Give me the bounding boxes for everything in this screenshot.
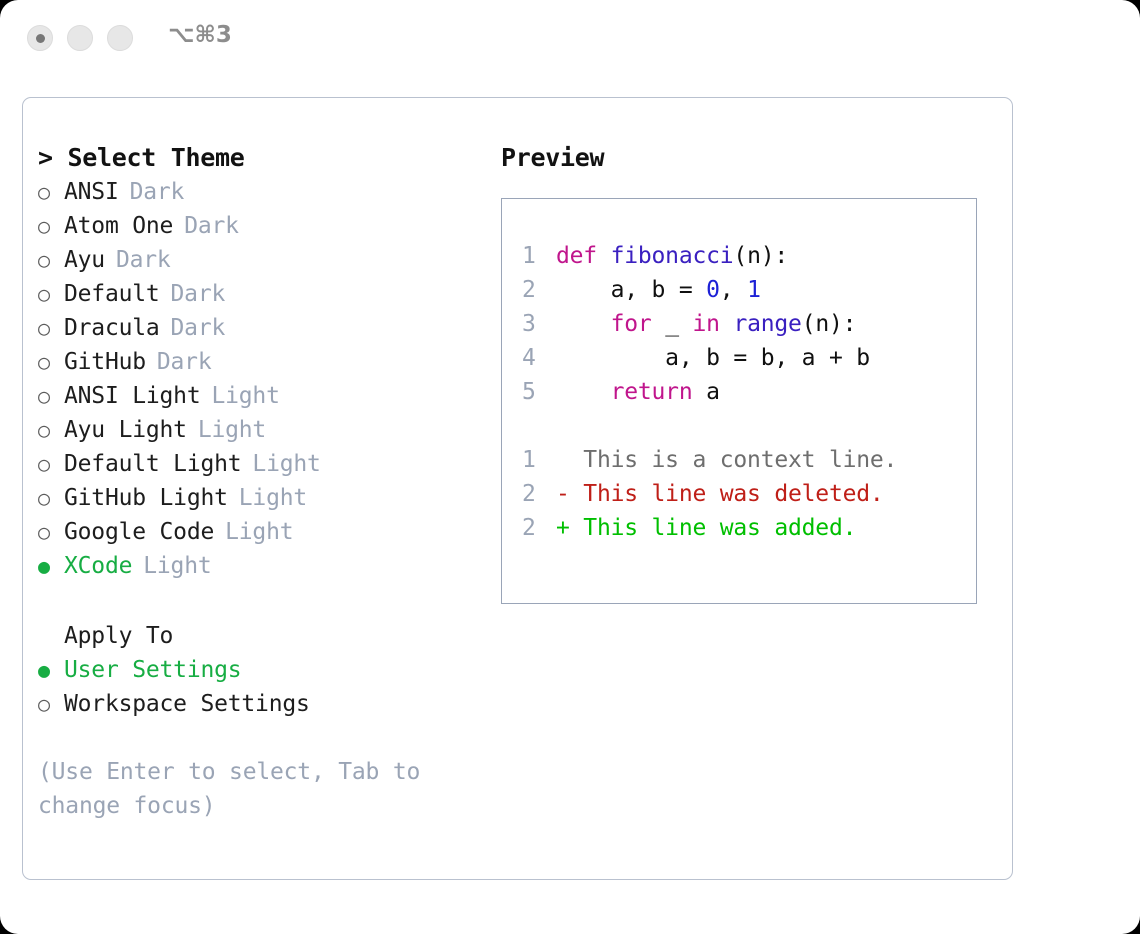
main-panel: > Select Theme ○ANSIDark○Atom OneDark○Ay… xyxy=(22,97,1013,880)
theme-name-label: Ayu xyxy=(64,243,105,277)
code-token-plain: (n): xyxy=(802,311,857,337)
theme-list: ○ANSIDark○Atom OneDark○AyuDark○DefaultDa… xyxy=(38,175,488,583)
code-line-text: def fibonacci(n): xyxy=(556,239,788,273)
radio-unselected-icon: ○ xyxy=(38,345,64,379)
theme-name-label: Atom One xyxy=(64,209,173,243)
theme-name-label: Dracula xyxy=(64,311,160,345)
theme-variant-label: Light xyxy=(211,379,279,413)
theme-list-item[interactable]: ○ANSI LightLight xyxy=(38,379,488,413)
radio-unselected-icon: ○ xyxy=(38,175,64,209)
theme-list-item[interactable]: ○Ayu LightLight xyxy=(38,413,488,447)
theme-name-label: Ayu Light xyxy=(64,413,187,447)
radio-unselected-icon: ○ xyxy=(38,481,64,515)
apply-to-header: Apply To xyxy=(38,619,488,653)
theme-variant-label: Dark xyxy=(184,209,239,243)
line-number: 2 xyxy=(522,273,556,307)
radio-unselected-icon: ○ xyxy=(38,311,64,345)
preview-column: Preview 1def fibonacci(n):2 a, b = 0, 13… xyxy=(501,141,1001,604)
theme-name-label: ANSI xyxy=(64,175,119,209)
diff-line: 2+ This line was added. xyxy=(522,511,976,545)
code-line: 4 a, b = b, a + b xyxy=(522,341,976,375)
theme-list-item[interactable]: ○ANSIDark xyxy=(38,175,488,209)
code-sample: 1def fibonacci(n):2 a, b = 0, 13 for _ i… xyxy=(522,239,976,409)
radio-unselected-icon: ○ xyxy=(38,515,64,549)
diff-line-text: - This line was deleted. xyxy=(556,477,884,511)
apply-to-option[interactable]: ○Workspace Settings xyxy=(38,687,488,721)
code-line-text: a, b = 0, 1 xyxy=(556,273,761,307)
keyboard-shortcut-label: ⌥⌘3 xyxy=(168,22,232,48)
theme-list-item[interactable]: ○DefaultDark xyxy=(38,277,488,311)
theme-name-label: GitHub xyxy=(64,345,146,379)
line-number: 1 xyxy=(522,443,556,477)
line-number: 2 xyxy=(522,511,556,545)
code-token-plain: a xyxy=(692,379,719,405)
theme-list-item[interactable]: ○DraculaDark xyxy=(38,311,488,345)
preview-title: Preview xyxy=(501,141,1001,175)
theme-list-item[interactable]: ○GitHub LightLight xyxy=(38,481,488,515)
theme-variant-label: Dark xyxy=(116,243,171,277)
preview-box: 1def fibonacci(n):2 a, b = 0, 13 for _ i… xyxy=(501,198,977,604)
diff-line: 2- This line was deleted. xyxy=(522,477,976,511)
code-line: 5 return a xyxy=(522,375,976,409)
code-token-num: 1 xyxy=(747,277,761,303)
code-token-fn: fibonacci xyxy=(611,243,734,269)
radio-selected-icon: ● xyxy=(38,653,64,687)
line-number: 4 xyxy=(522,341,556,375)
radio-selected-icon: ● xyxy=(38,549,64,583)
code-token-plain: (n): xyxy=(733,243,788,269)
line-number: 1 xyxy=(522,239,556,273)
theme-list-item[interactable]: ○AyuDark xyxy=(38,243,488,277)
diff-sample: 1 This is a context line.2- This line wa… xyxy=(522,443,976,545)
radio-unselected-icon: ○ xyxy=(38,209,64,243)
code-token-num: 0 xyxy=(706,277,720,303)
radio-unselected-icon: ○ xyxy=(38,447,64,481)
window-dot-active-center-icon xyxy=(36,34,45,43)
theme-list-item[interactable]: ○Default LightLight xyxy=(38,447,488,481)
theme-name-label: Default Light xyxy=(64,447,241,481)
apply-to-section: Apply To ●User Settings○Workspace Settin… xyxy=(38,619,488,721)
window-dot-second-icon[interactable] xyxy=(67,25,93,51)
code-line: 3 for _ in range(n): xyxy=(522,307,976,341)
theme-variant-label: Dark xyxy=(157,345,212,379)
line-number: 3 xyxy=(522,307,556,341)
app-window: ⌥⌘3 > Select Theme ○ANSIDark○Atom OneDar… xyxy=(0,0,1140,934)
select-theme-header: > Select Theme xyxy=(38,141,488,175)
radio-unselected-icon: ○ xyxy=(38,277,64,311)
theme-name-label: Google Code xyxy=(64,515,214,549)
radio-unselected-icon: ○ xyxy=(38,687,64,721)
code-token-plain: a, b = b, a + b xyxy=(556,345,870,371)
theme-variant-label: Dark xyxy=(171,277,226,311)
apply-to-option-label: User Settings xyxy=(64,653,241,687)
title-bar: ⌥⌘3 xyxy=(0,0,1140,80)
code-line-text: return a xyxy=(556,375,720,409)
code-token-plain: a, b = xyxy=(556,277,706,303)
theme-variant-label: Light xyxy=(252,447,320,481)
code-token-plain xyxy=(720,311,734,337)
theme-list-item[interactable]: ●XCodeLight xyxy=(38,549,488,583)
theme-name-label: ANSI Light xyxy=(64,379,200,413)
code-line-text: a, b = b, a + b xyxy=(556,341,870,375)
theme-variant-label: Light xyxy=(198,413,266,447)
theme-variant-label: Light xyxy=(239,481,307,515)
code-token-plain xyxy=(556,379,611,405)
theme-variant-label: Light xyxy=(225,515,293,549)
code-token-fn: range xyxy=(733,311,801,337)
theme-variant-label: Light xyxy=(143,549,211,583)
diff-line-text: This is a context line. xyxy=(556,443,897,477)
radio-unselected-icon: ○ xyxy=(38,243,64,277)
radio-unselected-icon: ○ xyxy=(38,379,64,413)
window-dot-third-icon[interactable] xyxy=(107,25,133,51)
theme-name-label: Default xyxy=(64,277,160,311)
apply-to-option-label: Workspace Settings xyxy=(64,687,310,721)
radio-unselected-icon: ○ xyxy=(38,413,64,447)
line-number: 2 xyxy=(522,477,556,511)
code-token-kw: def xyxy=(556,243,611,269)
diff-line: 1 This is a context line. xyxy=(522,443,976,477)
code-token-plain: , xyxy=(720,277,747,303)
code-diff-spacer xyxy=(522,409,976,443)
code-token-kw: return xyxy=(611,379,693,405)
line-number: 5 xyxy=(522,375,556,409)
theme-name-label: GitHub Light xyxy=(64,481,228,515)
code-token-kw: for xyxy=(611,311,652,337)
keyboard-hint-text: (Use Enter to select, Tab to change focu… xyxy=(38,755,450,823)
theme-name-label: XCode xyxy=(64,549,132,583)
code-line: 2 a, b = 0, 1 xyxy=(522,273,976,307)
theme-variant-label: Dark xyxy=(171,311,226,345)
code-line: 1def fibonacci(n): xyxy=(522,239,976,273)
code-token-kw: in xyxy=(693,311,720,337)
theme-list-item[interactable]: ○Google CodeLight xyxy=(38,515,488,549)
apply-to-option[interactable]: ●User Settings xyxy=(38,653,488,687)
diff-line-text: + This line was added. xyxy=(556,511,856,545)
theme-selector-column: > Select Theme ○ANSIDark○Atom OneDark○Ay… xyxy=(38,141,488,823)
apply-to-options: ●User Settings○Workspace Settings xyxy=(38,653,488,721)
code-line-text: for _ in range(n): xyxy=(556,307,856,341)
code-token-plain: _ xyxy=(652,311,693,337)
theme-variant-label: Dark xyxy=(130,175,185,209)
code-token-plain xyxy=(556,311,611,337)
theme-list-item[interactable]: ○GitHubDark xyxy=(38,345,488,379)
theme-list-item[interactable]: ○Atom OneDark xyxy=(38,209,488,243)
